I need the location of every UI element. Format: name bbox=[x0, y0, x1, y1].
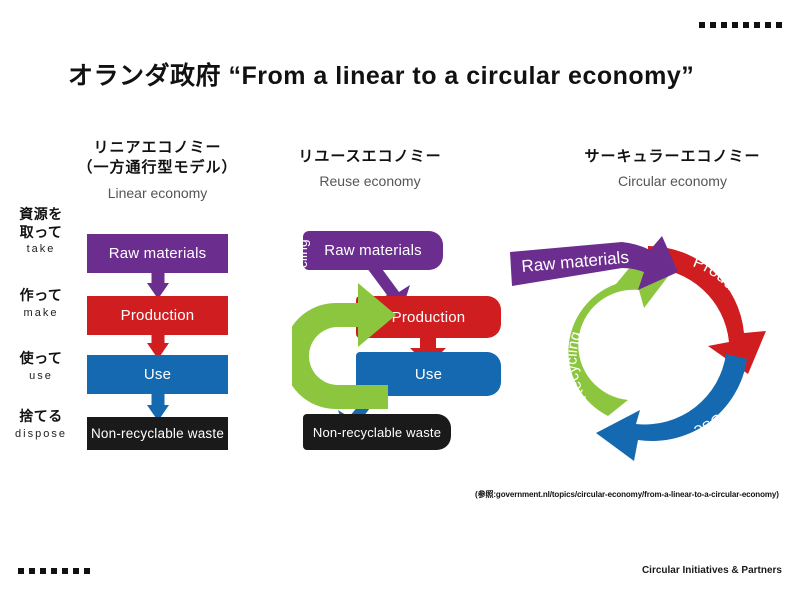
stage-make-en: make bbox=[0, 307, 82, 319]
decor-square bbox=[721, 22, 727, 28]
linear-node-use: Use bbox=[87, 355, 228, 394]
stage-use-en: use bbox=[0, 370, 82, 382]
circular-economy-diagram: Production Use Recycling Raw materials bbox=[498, 228, 798, 463]
decor-square bbox=[710, 22, 716, 28]
column-header-reuse-en: Reuse economy bbox=[275, 172, 465, 191]
column-header-linear: リニアエコノミー （一方通行型モデル） Linear economy bbox=[45, 138, 270, 202]
circular-arc-recycling-label: Recycling bbox=[564, 330, 591, 404]
stage-label-dispose: 捨てる dispose bbox=[0, 408, 82, 440]
column-header-circular-jp: サーキュラーエコノミー bbox=[540, 147, 800, 167]
decor-square bbox=[51, 568, 57, 574]
slide-canvas: オランダ政府 “From a linear to a circular econ… bbox=[0, 0, 800, 600]
stage-label-take: 資源を 取って take bbox=[0, 206, 82, 255]
column-header-circular: サーキュラーエコノミー Circular economy bbox=[540, 147, 800, 191]
arrow-stem bbox=[152, 392, 165, 406]
column-header-reuse: リユースエコノミー Reuse economy bbox=[275, 147, 465, 191]
circular-arc-raw-materials: Raw materials bbox=[510, 236, 678, 290]
slide-title: オランダ政府 “From a linear to a circular econ… bbox=[68, 56, 768, 92]
stage-dispose-en: dispose bbox=[0, 428, 82, 440]
linear-arrow-raw-to-production bbox=[147, 271, 169, 299]
footer-brand: Circular Initiatives & Partners bbox=[642, 565, 782, 576]
circular-arc-use: Use bbox=[596, 354, 747, 461]
stage-take-jp-line1: 資源を bbox=[0, 206, 82, 224]
column-header-linear-jp-line2: （一方通行型モデル） bbox=[45, 158, 270, 178]
decor-square bbox=[743, 22, 749, 28]
decor-square bbox=[765, 22, 771, 28]
decor-squares-top-right bbox=[699, 22, 782, 28]
stage-dispose-jp: 捨てる bbox=[0, 408, 82, 426]
decor-square bbox=[73, 568, 79, 574]
stage-take-en: take bbox=[0, 243, 82, 255]
linear-node-production: Production bbox=[87, 296, 228, 335]
decor-square bbox=[84, 568, 90, 574]
decor-square bbox=[699, 22, 705, 28]
stage-make-jp: 作って bbox=[0, 287, 82, 305]
decor-square bbox=[40, 568, 46, 574]
decor-square bbox=[62, 568, 68, 574]
stage-take-jp-line2: 取って bbox=[0, 224, 82, 242]
linear-node-non-recyclable-waste: Non-recyclable waste bbox=[87, 417, 228, 450]
decor-square bbox=[776, 22, 782, 28]
decor-square bbox=[29, 568, 35, 574]
column-header-linear-en: Linear economy bbox=[45, 184, 270, 203]
decor-squares-bottom-left bbox=[18, 568, 90, 574]
decor-square bbox=[732, 22, 738, 28]
stage-use-jp: 使って bbox=[0, 350, 82, 368]
column-header-reuse-jp: リユースエコノミー bbox=[275, 147, 465, 167]
column-header-circular-en: Circular economy bbox=[540, 172, 800, 191]
stage-label-make: 作って make bbox=[0, 287, 82, 319]
circular-arc-recycling: Recycling bbox=[564, 260, 676, 416]
stage-label-use: 使って use bbox=[0, 350, 82, 382]
reuse-recycling-arrow bbox=[292, 281, 402, 416]
column-header-linear-jp-line1: リニアエコノミー bbox=[45, 138, 270, 158]
reuse-node-non-recyclable-waste: Non-recyclable waste bbox=[303, 414, 451, 450]
citation-text: (参照:government.nl/topics/circular-econom… bbox=[475, 489, 779, 500]
decor-square bbox=[754, 22, 760, 28]
decor-square bbox=[18, 568, 24, 574]
linear-node-raw-materials: Raw materials bbox=[87, 234, 228, 273]
